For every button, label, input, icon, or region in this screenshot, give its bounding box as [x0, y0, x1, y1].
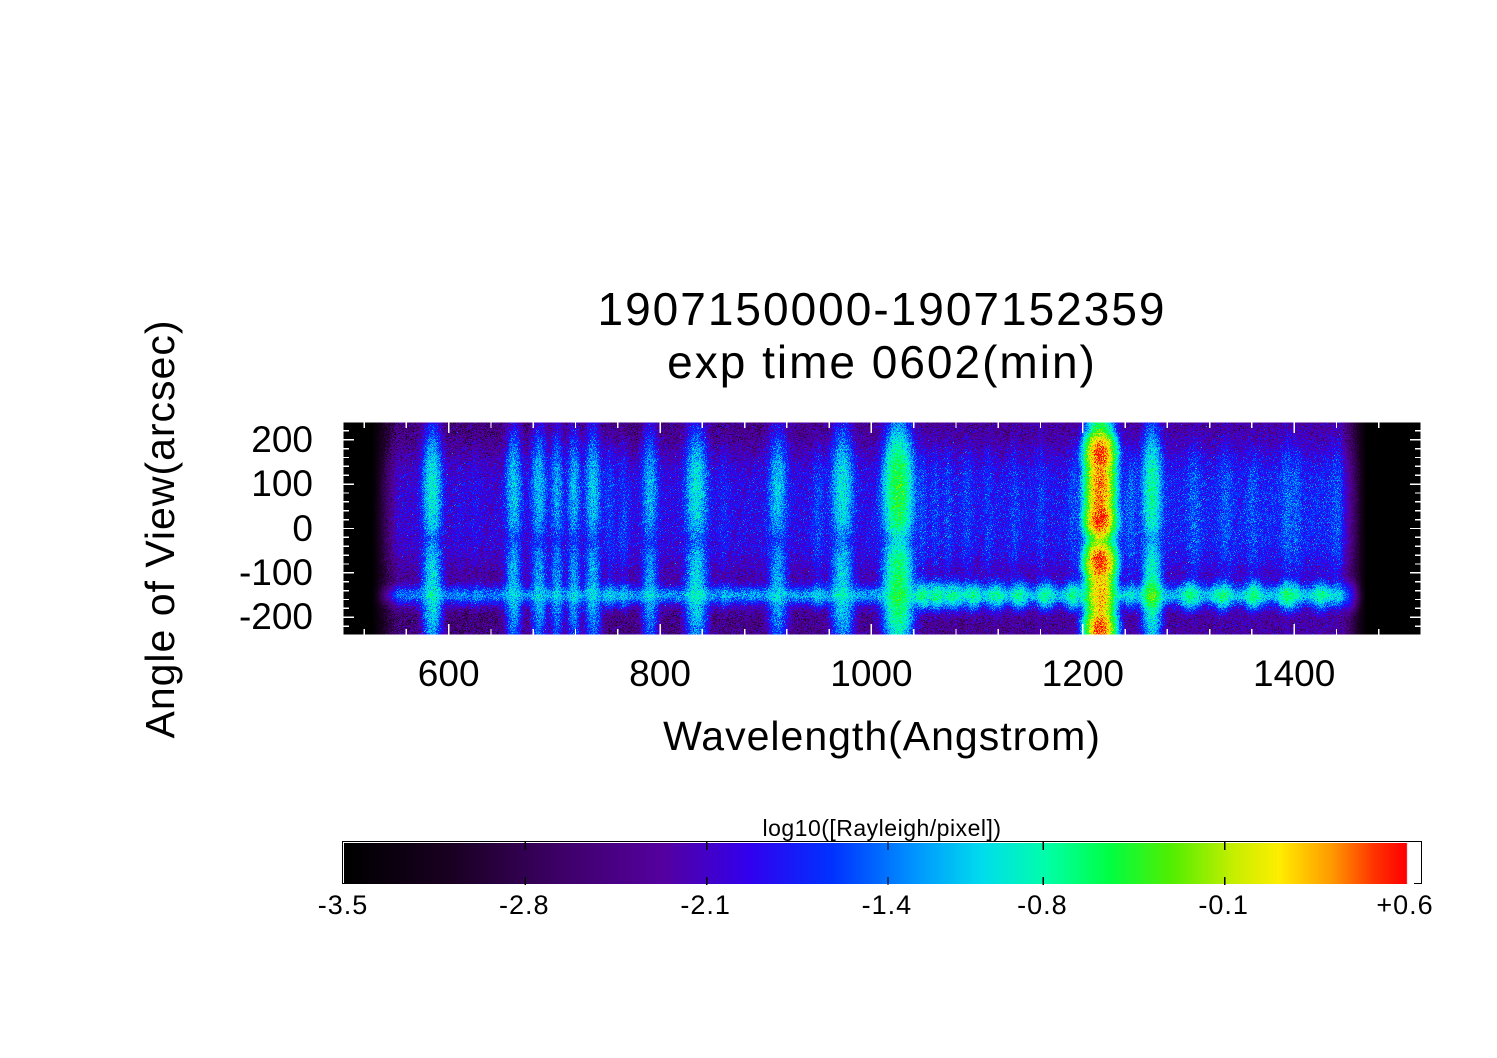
spectrogram-panel: [343, 422, 1421, 635]
colorbar-title: log10([Rayleigh/pixel]): [343, 815, 1421, 841]
x-tick-label: 1000: [830, 652, 912, 696]
spectrogram-image: [343, 422, 1421, 635]
x-tick-label: 1200: [1042, 652, 1124, 696]
colorbar-tick-label: -3.5: [318, 889, 369, 921]
y-tick-label: 0: [292, 510, 313, 547]
x-tick-label: 800: [629, 652, 691, 696]
colorbar-tick-labels: -3.5-2.8-2.1-1.4-0.8-0.1+0.6: [342, 889, 1422, 925]
x-axis-title: Wavelength(Angstrom): [343, 712, 1421, 760]
colorbar-tick-label: -1.4: [862, 889, 913, 921]
y-tick-labels: 2001000-100-200: [195, 422, 327, 635]
plot-title-line-1: 1907150000-1907152359: [343, 283, 1421, 336]
y-tick-label: -200: [239, 598, 313, 635]
x-tick-label: 600: [418, 652, 480, 696]
colorbar-tick-label: -0.8: [1017, 889, 1068, 921]
plot-title-line-2: exp time 0602(min): [343, 336, 1421, 389]
y-tick-label: 200: [251, 421, 313, 458]
colorbar: [342, 841, 1422, 884]
y-axis-title: Angle of View(arcsec): [136, 269, 184, 789]
x-tick-label: 1400: [1253, 652, 1335, 696]
colorbar-tick-label: +0.6: [1376, 889, 1433, 921]
y-tick-label: -100: [239, 554, 313, 591]
colorbar-gradient: [344, 843, 1414, 884]
colorbar-tick-label: -0.1: [1198, 889, 1249, 921]
plot-title: 1907150000-1907152359 exp time 0602(min): [343, 283, 1421, 389]
colorbar-tick-label: -2.1: [680, 889, 731, 921]
y-tick-label: 100: [251, 465, 313, 502]
colorbar-tick-label: -2.8: [499, 889, 550, 921]
x-tick-labels: 600800100012001400: [343, 652, 1421, 702]
